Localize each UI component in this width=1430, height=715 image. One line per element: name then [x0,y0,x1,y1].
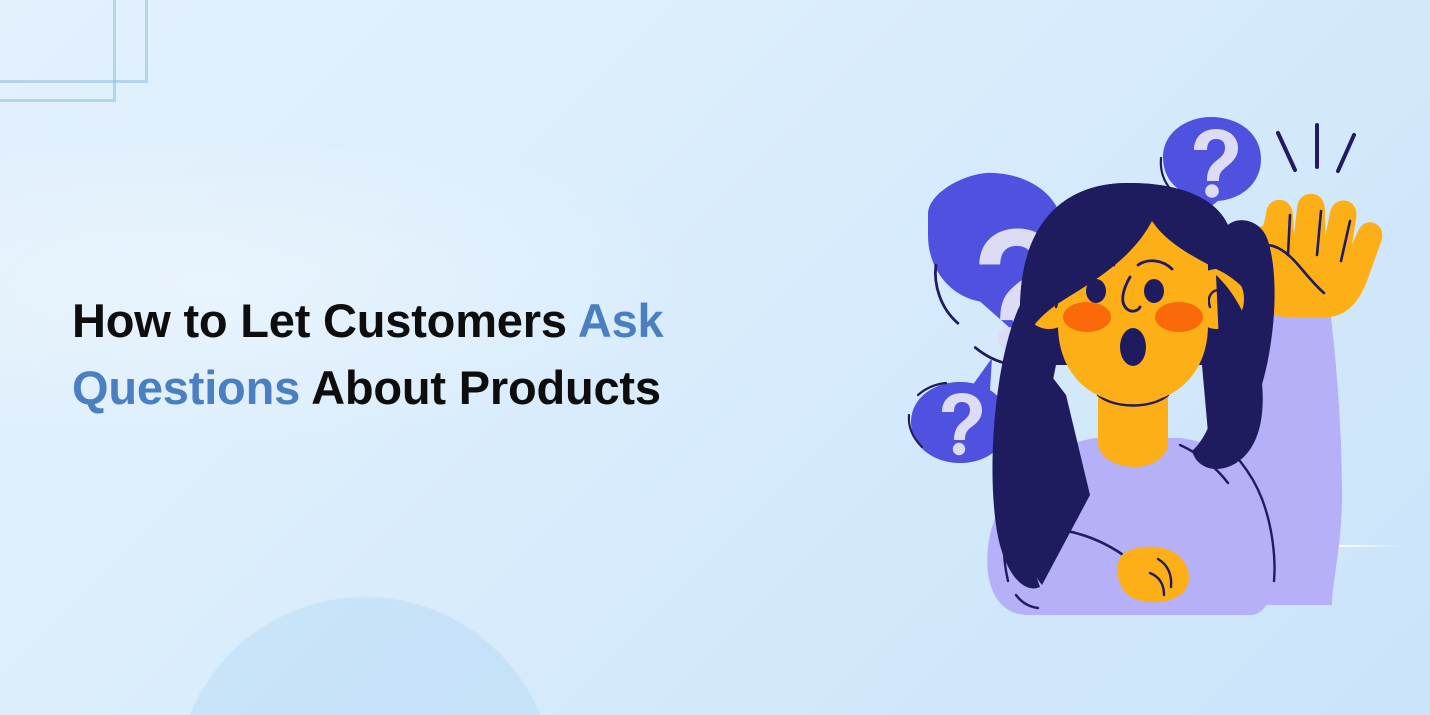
motion-lines-icon [1278,125,1354,171]
headline-accent-ask: Ask [578,294,664,347]
decorative-outline-rectangle-outer [0,0,148,83]
headline-text-part-3: About Products [300,361,661,414]
decorative-outline-rectangle-inner [0,0,116,102]
hero-illustration [880,95,1400,615]
headline-accent-questions: Questions [72,361,300,414]
cheek-left [1063,302,1111,332]
hero-banner: How to Let Customers Ask Questions About… [0,0,1430,715]
eye-right [1144,279,1164,303]
headline-container: How to Let Customers Ask Questions About… [72,288,772,421]
headline-text-part-1: How to Let Customers [72,294,578,347]
cheek-right [1155,302,1203,332]
decorative-circle [176,597,554,715]
page-title: How to Let Customers Ask Questions About… [72,288,772,421]
mouth [1120,328,1146,366]
